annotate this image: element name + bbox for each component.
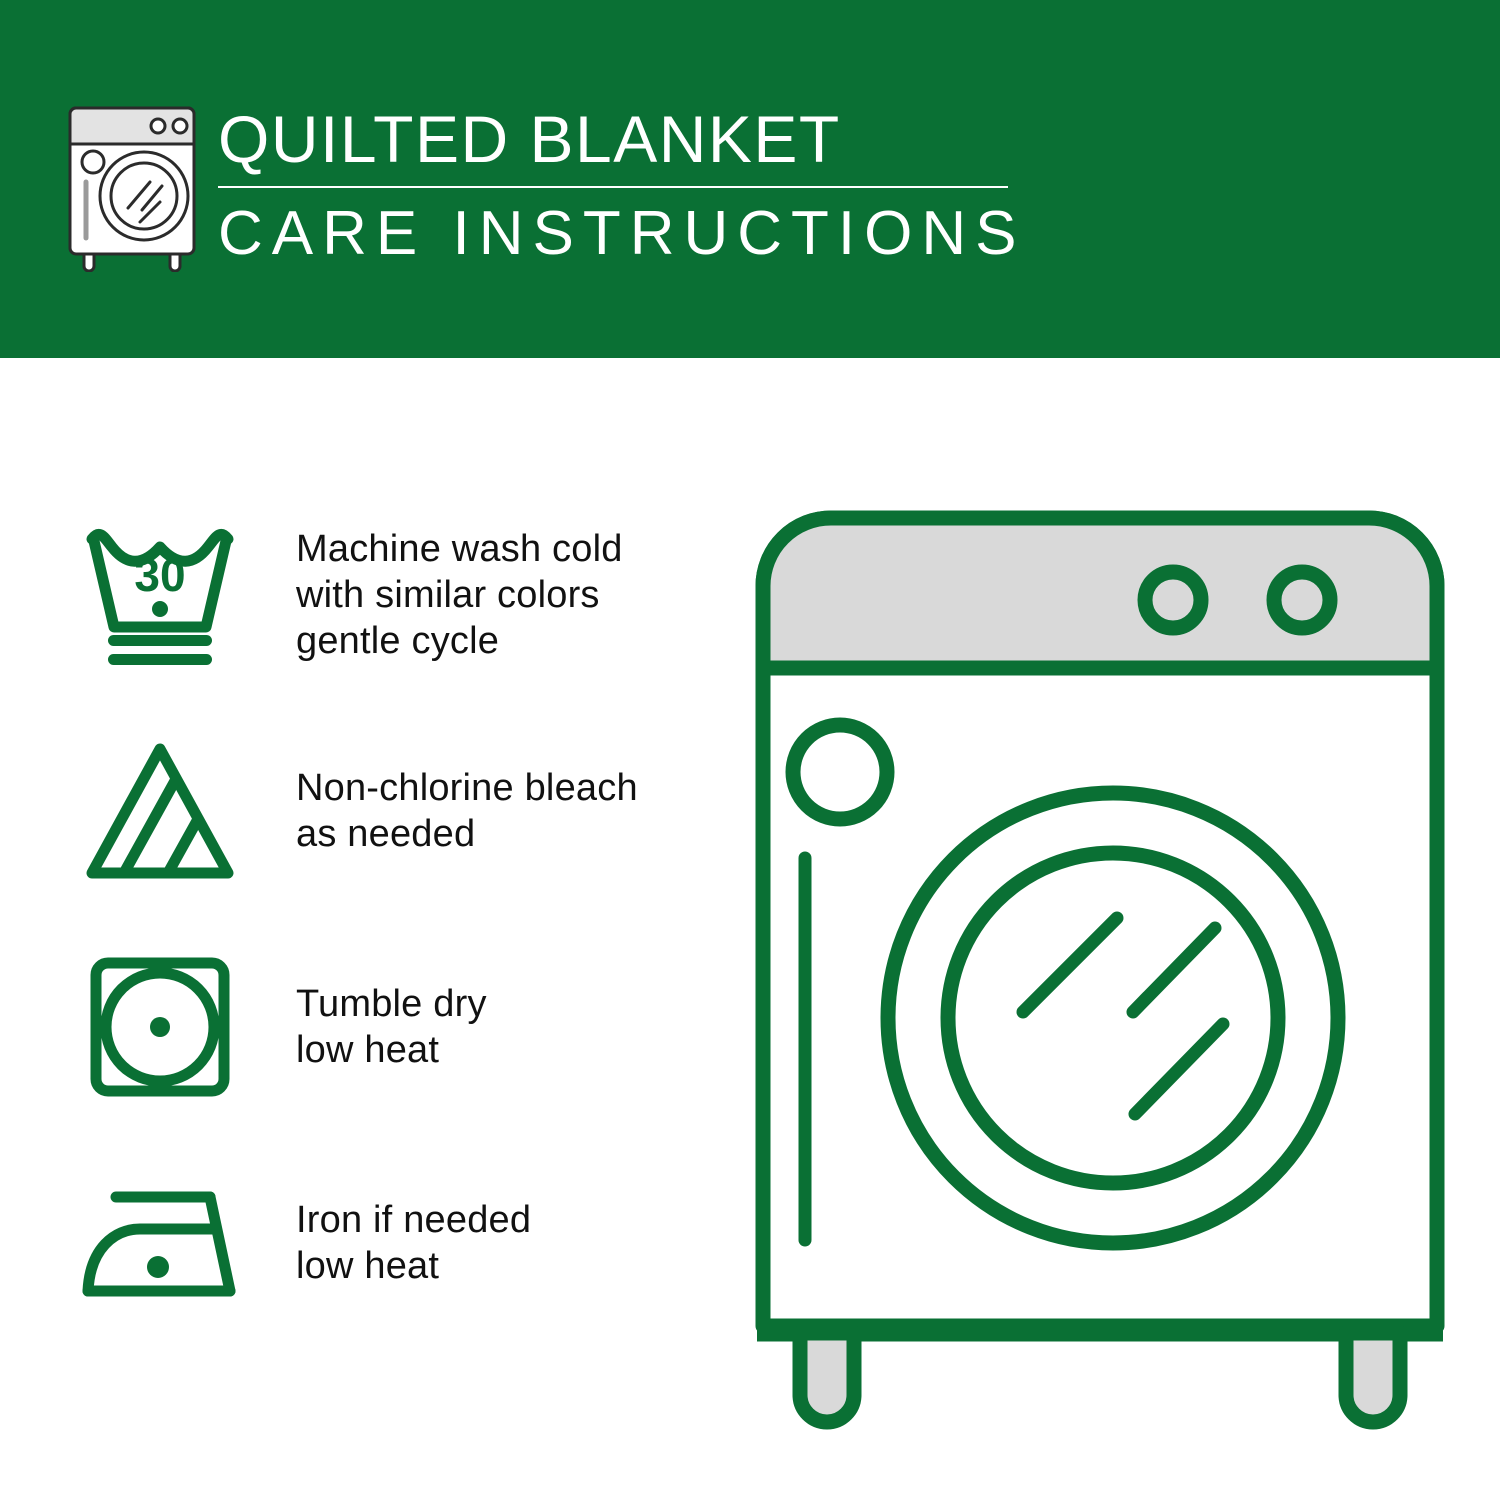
page-subtitle: CARE INSTRUCTIONS [218,198,1018,270]
care-row-tumble-dry: Tumble dry low heat [70,937,730,1117]
care-row-bleach: Non-chlorine bleach as needed [70,721,730,901]
wash-tub-30-gentle-icon: 30 [70,510,250,680]
machine-leg-right [1346,1333,1400,1422]
care-label-wash: Machine wash cold with similar colors ge… [250,526,730,664]
care-instructions-infographic: QUILTED BLANKET CARE INSTRUCTIONS 30 [0,0,1500,1500]
care-label-tumble-dry: Tumble dry low heat [250,981,730,1073]
care-label-tumble-dry-line2: low heat [296,1027,730,1073]
care-instruction-list: 30 Machine wash cold with similar colors… [70,505,730,1369]
care-label-bleach-line2: as needed [296,811,730,857]
care-label-wash-line3: gentle cycle [296,618,730,664]
care-label-bleach: Non-chlorine bleach as needed [250,765,730,857]
care-row-wash: 30 Machine wash cold with similar colors… [70,505,730,685]
care-label-iron: Iron if needed low heat [250,1197,730,1289]
header-text-block: QUILTED BLANKET CARE INSTRUCTIONS [218,100,1018,270]
non-chlorine-bleach-triangle-icon [70,726,250,896]
care-label-tumble-dry-line1: Tumble dry [296,981,730,1027]
care-label-bleach-line1: Non-chlorine bleach [296,765,730,811]
machine-leg-left [800,1333,854,1422]
care-row-iron: Iron if needed low heat [70,1153,730,1333]
page-title: QUILTED BLANKET [218,100,1018,178]
header-band: QUILTED BLANKET CARE INSTRUCTIONS [0,0,1500,358]
washing-machine-icon [62,104,202,272]
tumble-dry-low-heat-icon [70,942,250,1112]
care-label-iron-line1: Iron if needed [296,1197,730,1243]
wash-temperature-value: 30 [134,549,185,601]
iron-low-heat-icon [70,1158,250,1328]
care-label-wash-line1: Machine wash cold [296,526,730,572]
title-divider [218,186,1008,188]
care-label-wash-line2: with similar colors [296,572,730,618]
front-load-washing-machine-illustration [745,500,1455,1430]
care-label-iron-line2: low heat [296,1243,730,1289]
